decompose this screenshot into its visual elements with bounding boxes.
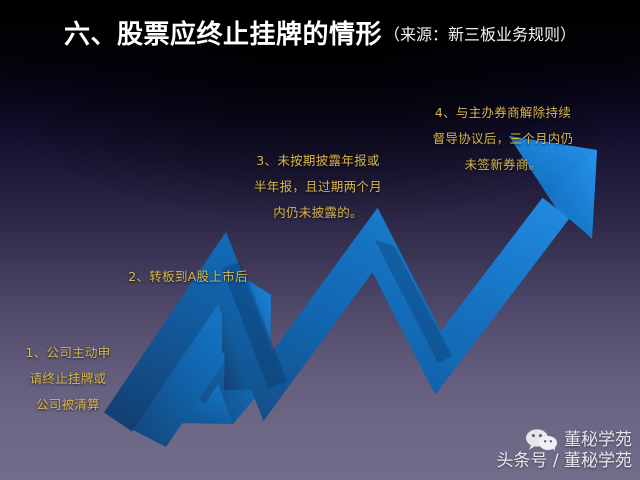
watermark-platform-row: 头条号 / 董秘学苑 [496,451,632,472]
watermark-account-name: 董秘学苑 [564,430,632,451]
wechat-icon [525,429,559,451]
callout-label-4: 4、与主办券商解除持续 督导协议后，三个月内仍 未签新券商。 [408,100,598,178]
callout-label-1-line-2: 请终止挂牌或 [8,366,128,392]
callout-label-3-line-1: 3、未按期披露年报或 [232,148,404,174]
callout-label-2-line-1: 2、转板到A股上市后 [108,264,268,290]
callout-label-4-line-3: 未签新券商。 [408,152,598,178]
callout-label-4-line-2: 督导协议后，三个月内仍 [408,126,598,152]
callout-label-4-line-1: 4、与主办券商解除持续 [408,100,598,126]
callout-label-3-line-3: 内仍未披露的。 [232,200,404,226]
callout-label-1-line-1: 1、公司主动申 [8,340,128,366]
watermark-platform-line: 头条号 / 董秘学苑 [496,451,632,472]
watermark: 董秘学苑 头条号 / 董秘学苑 [496,429,632,472]
callout-label-3-line-2: 半年报，且过期两个月 [232,174,404,200]
callout-label-3: 3、未按期披露年报或 半年报，且过期两个月 内仍未披露的。 [232,148,404,226]
watermark-account-row: 董秘学苑 [496,429,632,451]
presentation-slide: 六、股票应终止挂牌的情形（来源：新三板业务规则） [0,0,640,480]
callout-label-1: 1、公司主动申 请终止挂牌或 公司被清算 [8,340,128,418]
callout-label-2: 2、转板到A股上市后 [108,264,268,290]
callout-label-1-line-3: 公司被清算 [8,392,128,418]
